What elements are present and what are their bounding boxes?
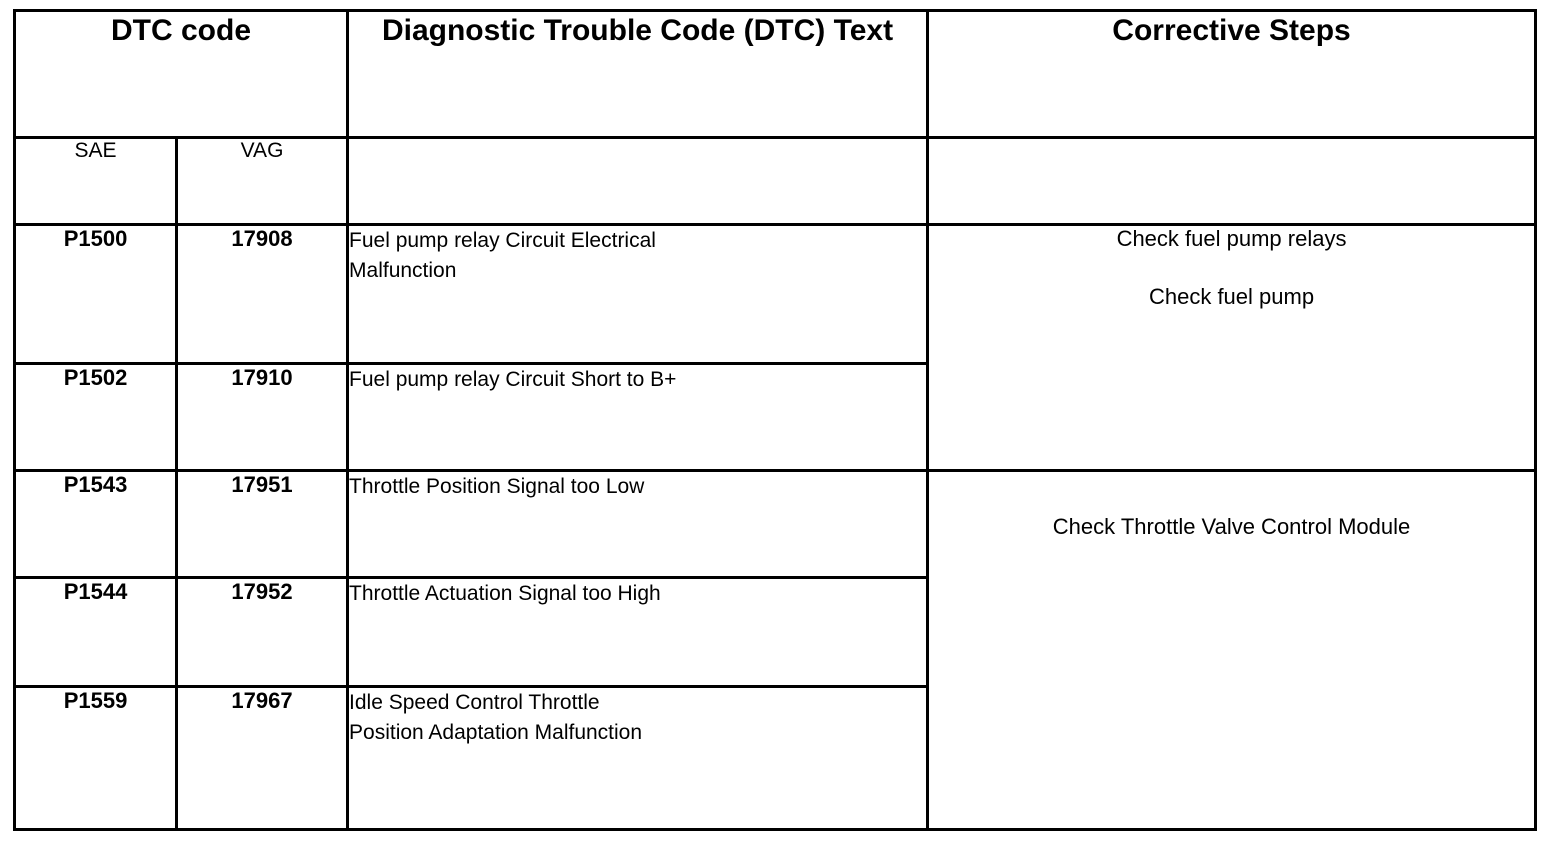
dtc-text-line: Fuel pump relay Circuit Electrical bbox=[349, 226, 926, 256]
cell-vag-code: 17908 bbox=[177, 225, 348, 364]
header-sae: SAE bbox=[15, 138, 177, 225]
table-header-group-row: DTC code Diagnostic Trouble Code (DTC) T… bbox=[15, 11, 1536, 138]
sae-code-value: P1544 bbox=[64, 579, 128, 604]
table-row: P1500 17908 Fuel pump relay Circuit Elec… bbox=[15, 225, 1536, 364]
header-dtc-code: DTC code bbox=[15, 11, 348, 138]
cell-dtc-text: Fuel pump relay Circuit Short to B+ bbox=[348, 364, 928, 471]
dtc-text-line: Throttle Actuation Signal too High bbox=[349, 579, 926, 609]
header-dtc-code-label: DTC code bbox=[16, 12, 346, 50]
cell-vag-code: 17951 bbox=[177, 471, 348, 578]
vag-code-value: 17910 bbox=[231, 365, 292, 390]
cell-corrective-steps-throttle: Check Throttle Valve Control Module bbox=[928, 471, 1536, 830]
corrective-step-line: Check Throttle Valve Control Module bbox=[929, 514, 1534, 540]
cell-vag-code: 17910 bbox=[177, 364, 348, 471]
dtc-text-line: Position Adaptation Malfunction bbox=[349, 718, 926, 748]
sae-code-value: P1559 bbox=[64, 688, 128, 713]
header-corrective-steps: Corrective Steps bbox=[928, 11, 1536, 138]
cell-vag-code: 17952 bbox=[177, 578, 348, 687]
cell-dtc-text: Fuel pump relay Circuit Electrical Malfu… bbox=[348, 225, 928, 364]
corrective-step-line: Check fuel pump relays bbox=[929, 226, 1534, 252]
header-dtc-text-sub-empty bbox=[348, 138, 928, 225]
cell-sae-code: P1500 bbox=[15, 225, 177, 364]
header-sae-label: SAE bbox=[74, 139, 116, 162]
header-vag: VAG bbox=[177, 138, 348, 225]
header-dtc-text: Diagnostic Trouble Code (DTC) Text bbox=[348, 11, 928, 138]
cell-vag-code: 17967 bbox=[177, 687, 348, 830]
corrective-step-line: Check fuel pump bbox=[929, 284, 1534, 310]
cell-sae-code: P1559 bbox=[15, 687, 177, 830]
cell-sae-code: P1544 bbox=[15, 578, 177, 687]
sae-code-value: P1543 bbox=[64, 472, 128, 497]
vag-code-value: 17952 bbox=[231, 579, 292, 604]
cell-corrective-steps-fuel: Check fuel pump relays Check fuel pump bbox=[928, 225, 1536, 471]
vag-code-value: 17908 bbox=[231, 226, 292, 251]
table-row: P1543 17951 Throttle Position Signal too… bbox=[15, 471, 1536, 578]
header-dtc-text-label: Diagnostic Trouble Code (DTC) Text bbox=[349, 12, 926, 50]
dtc-text-line: Malfunction bbox=[349, 256, 926, 286]
header-corrective-steps-label: Corrective Steps bbox=[929, 12, 1534, 50]
vag-code-value: 17967 bbox=[231, 688, 292, 713]
sae-code-value: P1500 bbox=[64, 226, 128, 251]
cell-dtc-text: Idle Speed Control Throttle Position Ada… bbox=[348, 687, 928, 830]
header-vag-label: VAG bbox=[241, 139, 284, 162]
header-corrective-sub-empty bbox=[928, 138, 1536, 225]
dtc-text-line: Fuel pump relay Circuit Short to B+ bbox=[349, 365, 926, 395]
dtc-text-line: Throttle Position Signal too Low bbox=[349, 472, 926, 502]
vag-code-value: 17951 bbox=[231, 472, 292, 497]
table-header-sub-row: SAE VAG bbox=[15, 138, 1536, 225]
cell-dtc-text: Throttle Actuation Signal too High bbox=[348, 578, 928, 687]
cell-sae-code: P1502 bbox=[15, 364, 177, 471]
dtc-code-table: DTC code Diagnostic Trouble Code (DTC) T… bbox=[13, 9, 1537, 831]
cell-dtc-text: Throttle Position Signal too Low bbox=[348, 471, 928, 578]
dtc-text-line: Idle Speed Control Throttle bbox=[349, 688, 926, 718]
document-page: DTC code Diagnostic Trouble Code (DTC) T… bbox=[0, 0, 1568, 860]
cell-sae-code: P1543 bbox=[15, 471, 177, 578]
sae-code-value: P1502 bbox=[64, 365, 128, 390]
